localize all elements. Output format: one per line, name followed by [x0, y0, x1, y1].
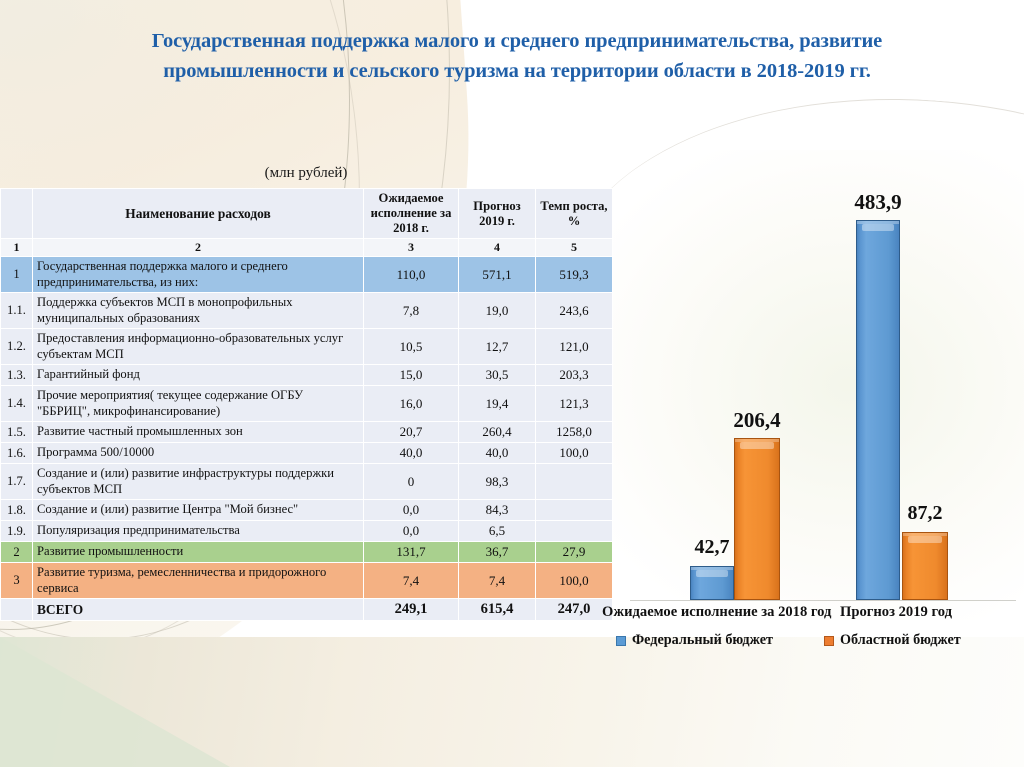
table-row-forecast-2019: 19,4: [459, 386, 536, 422]
table-row-forecast-2019: 19,0: [459, 293, 536, 329]
table-row: ВСЕГО249,1615,4247,0: [1, 599, 613, 621]
slide-title: Государственная поддержка малого и средн…: [72, 26, 962, 86]
colnum-1: 1: [1, 239, 33, 257]
table-row-growth-rate: 100,0: [536, 563, 613, 599]
table-row-forecast-2019: 84,3: [459, 500, 536, 521]
budget-bar-chart: 42,7206,4483,987,2 Ожидаемое исполнение …: [612, 180, 1024, 660]
legend-swatch-federal-icon: [616, 636, 626, 646]
table-row-index: 1: [1, 257, 33, 293]
table-row-index: [1, 599, 33, 621]
table-row-growth-rate: 121,0: [536, 329, 613, 365]
table-row-expected-2018: 10,5: [364, 329, 459, 365]
chart-bar: 483,9: [856, 220, 900, 600]
category-label-1: Прогноз 2019 год: [840, 604, 952, 621]
table-row-name: Развитие туризма, ремесленничества и при…: [33, 563, 364, 599]
table-row-growth-rate: [536, 521, 613, 542]
table-row-growth-rate: 203,3: [536, 365, 613, 386]
table-row-expected-2018: 15,0: [364, 365, 459, 386]
table-row-index: 1.5.: [1, 422, 33, 443]
chart-bar-body: [690, 566, 734, 600]
table-row-expected-2018: 16,0: [364, 386, 459, 422]
chart-bar-value-label: 87,2: [908, 502, 943, 525]
table-row: 1.5.Развитие частный промышленных зон20,…: [1, 422, 613, 443]
legend-swatch-regional-icon: [824, 636, 834, 646]
table-row-name: ВСЕГО: [33, 599, 364, 621]
chart-bar: 206,4: [734, 438, 780, 600]
header-index: [1, 189, 33, 239]
table-row-expected-2018: 0,0: [364, 500, 459, 521]
table-header-row: Наименование расходов Ожидаемое исполнен…: [1, 189, 613, 239]
table-row-growth-rate: 1258,0: [536, 422, 613, 443]
table-row-name: Развитие промышленности: [33, 542, 364, 563]
table-row-index: 1.6.: [1, 443, 33, 464]
table-row-index: 1.9.: [1, 521, 33, 542]
table-row-forecast-2019: 6,5: [459, 521, 536, 542]
table-row-expected-2018: 40,0: [364, 443, 459, 464]
table-row-index: 3: [1, 563, 33, 599]
chart-category-labels: Ожидаемое исполнение за 2018 год Прогноз…: [612, 604, 1024, 630]
chart-bar: 42,7: [690, 566, 734, 600]
category-label-0: Ожидаемое исполнение за 2018 год: [602, 604, 831, 621]
table-row-index: 1.1.: [1, 293, 33, 329]
chart-baseline: [630, 600, 1016, 601]
background-bottom-wedge: [0, 637, 230, 767]
table-body: 1Государственная поддержка малого и сред…: [1, 257, 613, 621]
table-row-name: Программа 500/10000: [33, 443, 364, 464]
table-row: 1.8.Создание и (или) развитие Центра "Мо…: [1, 500, 613, 521]
table-row: 1.2.Предоставления информационно-образов…: [1, 329, 613, 365]
table-row-name: Поддержка субъектов МСП в монопрофильных…: [33, 293, 364, 329]
table-row-expected-2018: 110,0: [364, 257, 459, 293]
table-row-expected-2018: 249,1: [364, 599, 459, 621]
legend-item-regional: Областной бюджет: [824, 632, 961, 649]
table-row: 1Государственная поддержка малого и сред…: [1, 257, 613, 293]
chart-bar-value-label: 42,7: [695, 536, 730, 559]
table-row-forecast-2019: 40,0: [459, 443, 536, 464]
table-row-growth-rate: 121,3: [536, 386, 613, 422]
table-column-numbers-row: 1 2 3 4 5: [1, 239, 613, 257]
table-row-expected-2018: 131,7: [364, 542, 459, 563]
table-row-name: Предоставления информационно-образовател…: [33, 329, 364, 365]
table-row-growth-rate: 27,9: [536, 542, 613, 563]
legend-label-federal: Федеральный бюджет: [632, 632, 773, 649]
table-row-index: 2: [1, 542, 33, 563]
table-row: 1.4.Прочие мероприятия( текущее содержан…: [1, 386, 613, 422]
colnum-4: 4: [459, 239, 536, 257]
table-row-growth-rate: [536, 464, 613, 500]
table-row-index: 1.4.: [1, 386, 33, 422]
header-col3: Ожидаемое исполнение за 2018 г.: [364, 189, 459, 239]
chart-bar-value-label: 206,4: [733, 408, 780, 433]
table-row-forecast-2019: 260,4: [459, 422, 536, 443]
chart-plot-area: 42,7206,4483,987,2: [612, 180, 1024, 600]
chart-legend: Федеральный бюджет Областной бюджет: [612, 632, 1024, 656]
header-col5: Темп роста, %: [536, 189, 613, 239]
colnum-2: 2: [33, 239, 364, 257]
table-row-forecast-2019: 571,1: [459, 257, 536, 293]
expenses-table-wrapper: Наименование расходов Ожидаемое исполнен…: [0, 188, 612, 621]
table-row-index: 1.8.: [1, 500, 33, 521]
table-row-forecast-2019: 7,4: [459, 563, 536, 599]
table-row-expected-2018: 7,4: [364, 563, 459, 599]
table-row-name: Создание и (или) развитие инфраструктуры…: [33, 464, 364, 500]
table-row-index: 1.7.: [1, 464, 33, 500]
table-row: 1.7.Создание и (или) развитие инфраструк…: [1, 464, 613, 500]
legend-item-federal: Федеральный бюджет: [616, 632, 773, 649]
table-row-forecast-2019: 98,3: [459, 464, 536, 500]
table-row-growth-rate: 100,0: [536, 443, 613, 464]
header-col4: Прогноз 2019 г.: [459, 189, 536, 239]
table-row-forecast-2019: 615,4: [459, 599, 536, 621]
chart-bar-body: [734, 438, 780, 600]
table-row: 3Развитие туризма, ремесленничества и пр…: [1, 563, 613, 599]
table-row-index: 1.2.: [1, 329, 33, 365]
table-row: 1.6.Программа 500/1000040,040,0100,0: [1, 443, 613, 464]
colnum-5: 5: [536, 239, 613, 257]
table-row-name: Развитие частный промышленных зон: [33, 422, 364, 443]
table-row-name: Создание и (или) развитие Центра "Мой би…: [33, 500, 364, 521]
presentation-slide: Государственная поддержка малого и средн…: [0, 0, 1024, 767]
table-row: 1.9.Популяризация предпринимательства0,0…: [1, 521, 613, 542]
chart-bar-body: [902, 532, 948, 600]
table-row-forecast-2019: 36,7: [459, 542, 536, 563]
expenses-table: Наименование расходов Ожидаемое исполнен…: [0, 188, 613, 621]
table-head: Наименование расходов Ожидаемое исполнен…: [1, 189, 613, 257]
table-row-name: Популяризация предпринимательства: [33, 521, 364, 542]
table-row-name: Гарантийный фонд: [33, 365, 364, 386]
table-row-expected-2018: 20,7: [364, 422, 459, 443]
table-row-expected-2018: 0,0: [364, 521, 459, 542]
table-row-growth-rate: 519,3: [536, 257, 613, 293]
chart-bar-highlight: [740, 442, 774, 449]
table-row-name: Прочие мероприятия( текущее содержание О…: [33, 386, 364, 422]
chart-bar-body: [856, 220, 900, 600]
chart-bar-highlight: [908, 536, 942, 543]
table-row-name: Государственная поддержка малого и средн…: [33, 257, 364, 293]
chart-bar-highlight: [696, 570, 728, 577]
header-name: Наименование расходов: [33, 189, 364, 239]
table-row-growth-rate: [536, 500, 613, 521]
units-note: (млн рублей): [0, 165, 612, 182]
table-row-expected-2018: 7,8: [364, 293, 459, 329]
table-row: 1.1.Поддержка субъектов МСП в монопрофил…: [1, 293, 613, 329]
legend-label-regional: Областной бюджет: [840, 632, 961, 649]
table-row-forecast-2019: 12,7: [459, 329, 536, 365]
colnum-3: 3: [364, 239, 459, 257]
table-row-forecast-2019: 30,5: [459, 365, 536, 386]
table-row: 1.3.Гарантийный фонд15,030,5203,3: [1, 365, 613, 386]
table-row-growth-rate: 247,0: [536, 599, 613, 621]
chart-bar-value-label: 483,9: [854, 190, 901, 215]
chart-bar: 87,2: [902, 532, 948, 600]
table-row-expected-2018: 0: [364, 464, 459, 500]
table-row-index: 1.3.: [1, 365, 33, 386]
chart-bar-highlight: [862, 224, 894, 231]
table-row: 2Развитие промышленности131,736,727,9: [1, 542, 613, 563]
table-row-growth-rate: 243,6: [536, 293, 613, 329]
